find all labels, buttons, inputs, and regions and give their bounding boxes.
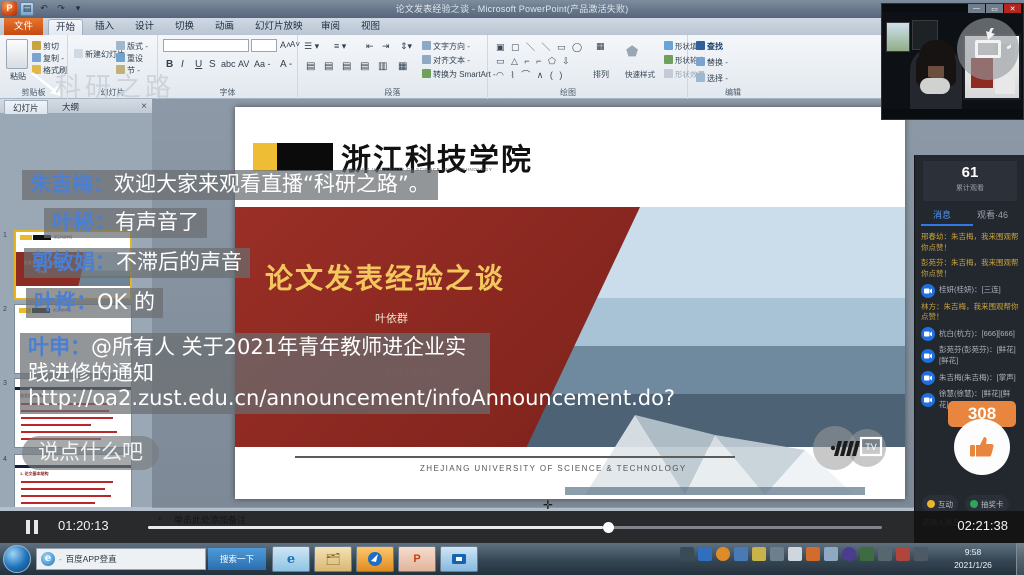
shape-gallery-row3[interactable]: ◠ ⌇ ⌒ ∧ ( ) [496,71,564,80]
tab-slideshow[interactable]: 幻灯片放映 [248,19,310,35]
reset-button[interactable]: 重设 [116,53,143,64]
group-label-paragraph: 段落 [298,87,487,98]
font-color-button[interactable]: A - [280,59,292,70]
shape-gallery-row1[interactable]: ▣ ▢ ＼ ＼ ▭ ◯ [496,43,584,52]
increase-indent-button[interactable]: ⇥ [382,41,390,52]
ribbon-tab-strip: 文件 开始 插入 设计 切换 动画 幻灯片放映 审阅 视图 [0,18,1024,35]
taskbar-clock[interactable]: 9:58 2021/1/26 [938,546,1008,572]
tab-review[interactable]: 审阅 [314,19,347,35]
live-message-gift: 彭苑芬(彭苑芬)：[鲜花][鲜花] [921,345,1019,367]
columns-button[interactable]: ▥ [378,61,387,72]
gift-avatar-icon [921,393,935,407]
title-bar: P ▤ ↶ ↷ ▾ 论文发表经验之谈 - Microsoft PowerPoin… [0,0,1024,18]
live-message-gift: 桂妍(桂妍)：[三连] [921,284,1019,298]
progress-track[interactable] [148,526,882,529]
wall-picture-1 [886,22,910,52]
gift-avatar-icon [921,349,935,363]
maximize-icon[interactable]: ▭ [986,4,1003,13]
tray-network-icon[interactable] [734,547,748,561]
logo-black-block [277,143,333,171]
webcam-window-controls[interactable]: — ▭ ✕ [968,4,1021,13]
line-spacing-button[interactable]: ⇕▾ [400,41,412,52]
chat-text: 有声音了 [115,210,199,234]
tab-animation[interactable]: 动画 [208,19,241,35]
close-panel-icon[interactable]: × [141,101,147,112]
select-button[interactable]: 选择 - [696,73,728,84]
tab-slides[interactable]: 幻灯片 [4,100,48,114]
taskbar-folder-button[interactable]: 🗂 [314,546,352,572]
action-interact-label: 互动 [938,499,953,510]
webcam-window[interactable]: — ▭ ✕ [881,3,1024,120]
search-value: 百度APP登直 [66,553,117,565]
slide-edit-pane[interactable]: 浙江科技学院 ZHEJIANG UNIVERSITY OF SCIENCE AN… [152,99,1024,507]
viewer-count-label: 累计观看 [923,183,1017,193]
group-label-font: 字体 [158,87,297,98]
text-direction-button[interactable]: 文字方向 - [422,41,470,52]
format-painter-button[interactable]: 格式刷 [32,65,67,76]
slide-number: 4 [3,456,7,463]
shape-gallery-row2[interactable]: ▭ △ ⌐ ⌐ ⬠ ⇩ [496,57,572,66]
slide-title: 论文发表经验之谈 [265,257,505,297]
show-desktop-button[interactable] [1016,543,1024,575]
tray-note-icon[interactable] [752,547,766,561]
align-left-button[interactable]: ▤ [306,61,315,72]
total-time: 02:21:38 [957,518,1008,533]
ribbon-group-clipboard: 粘贴 剪切 复制 - 格式刷 剪贴板 [0,35,68,99]
live-message-gift: 杭白(杭方)：[666][666] [921,327,1019,341]
screen: P ▤ ↶ ↷ ▾ 论文发表经验之谈 - Microsoft PowerPoin… [0,0,1024,575]
strikethrough-button[interactable]: abc [221,59,236,69]
tab-messages[interactable]: 消息 [933,208,951,221]
chat-bubble: 叶桦：OK 的 [26,288,163,318]
ribbon: 粘贴 剪切 复制 - 格式刷 剪贴板 新建幻灯片 - 版式 - 重设 节 - 幻… [0,35,1024,99]
taskbar-messenger-button[interactable] [356,546,394,572]
chat-author: 叶秘： [52,210,115,234]
chat-text: 欢迎大家来观看直播“科研之路”。 [114,172,430,196]
tab-transition[interactable]: 切换 [168,19,201,35]
tab-view[interactable]: 视图 [354,19,387,35]
window-title: 论文发表经验之谈 - Microsoft PowerPoint(产品激活失败) [0,2,1024,15]
progress-fill [148,526,603,529]
arrange-button[interactable]: 排列 [586,69,616,80]
clock-time: 9:58 [938,546,1008,559]
chat-bubble: 郭敏娟：不滞后的声音 [24,248,250,278]
chat-bubble-long: 叶申：@所有人 关于2021年青年教师进企业实践进修的通知 http://oa2… [20,333,490,414]
chat-text: OK 的 [97,290,155,314]
group-label-slides: 幻灯片 [68,87,157,98]
mouse-cursor-icon: ✛ [543,498,553,512]
live-message-text: 桂妍(桂妍)：[三连] [939,285,1001,296]
playback-bar[interactable]: 01:20:13 02:21:38 [0,511,1024,543]
thumbs-up-icon[interactable] [954,419,1010,475]
tab-home[interactable]: 开始 [48,19,83,35]
chat-bubble: 叶秘：有声音了 [44,208,207,238]
interact-dot-icon [927,500,935,508]
system-tray[interactable] [680,547,928,561]
taskbar-ie-button[interactable]: e [272,546,310,572]
live-message-text: 杭白(杭方)：[666][666] [939,329,1015,340]
ie-icon: e [41,552,55,566]
taskbar-video-button[interactable] [440,546,478,572]
close-icon[interactable]: ✕ [1004,4,1021,13]
ribbon-group-editing: 查找 替换 - 选择 - 编辑 [688,35,778,99]
tab-file[interactable]: 文件 [4,18,43,35]
chat-author: 叶桦： [34,290,97,314]
char-spacing-button[interactable]: AV [238,59,249,69]
tray-input-icon[interactable] [770,547,784,561]
windows-start-icon[interactable] [3,545,31,573]
action-lottery-label: 抽奖卡 [981,499,1004,510]
tray-cloud-icon[interactable] [824,547,838,561]
change-case-button[interactable]: Aa - [254,59,271,69]
paste-button[interactable]: 粘贴 [2,71,34,82]
shadow-button[interactable]: S [209,59,216,70]
justify-button[interactable]: ▤ [360,61,369,72]
taskbar[interactable]: e - 百度APP登直 搜索一下 e 🗂 P [0,543,1024,575]
convert-smartart-button[interactable]: 转换为 SmartArt - [422,69,496,80]
tray-browser-icon[interactable] [842,547,856,561]
tray-update-icon[interactable] [806,547,820,561]
tab-design[interactable]: 设计 [128,19,161,35]
pause-icon[interactable] [26,520,39,534]
live-message-gift: 朱吉梅(朱吉梅)：[掌声] [921,371,1019,385]
like-widget[interactable]: 308 [946,401,1018,473]
slide-number: 2 [3,306,7,313]
bullets-button[interactable]: ☰ ▾ [304,41,319,52]
text-layout-button[interactable]: ▦ [398,61,407,72]
chat-input-text: 说点什么吧 [38,440,143,464]
chat-author: 郭敏娟： [32,250,116,274]
align-center-button[interactable]: ▤ [324,61,333,72]
cut-button[interactable]: 剪切 [32,41,59,52]
slide-footer-rule [295,456,735,458]
find-button[interactable]: 查找 [696,41,723,52]
ribbon-group-slides: 新建幻灯片 - 版式 - 重设 节 - 幻灯片 [68,35,158,99]
tab-outline[interactable]: 大纲 [54,100,87,114]
tab-active-underline [921,224,973,226]
tray-shield-icon[interactable] [860,547,874,561]
tray-action-icon[interactable] [896,547,910,561]
section-button[interactable]: 节 - [116,65,140,76]
ribbon-group-font: A˄ A˅ B I U S abc AV Aa - A - 字体 [158,35,298,99]
tray-print-icon[interactable] [788,547,802,561]
tab-insert[interactable]: 插入 [88,19,121,35]
quick-styles-button[interactable]: 快速样式 [618,69,662,80]
ribbon-group-paragraph: ☰ ▾ ≡ ▾ ⇤ ⇥ ⇕▾ 文字方向 - 对齐文本 - 转换为 SmartAr… [298,35,488,99]
align-right-button[interactable]: ▤ [342,61,351,72]
numbering-button[interactable]: ≡ ▾ [334,41,346,52]
group-label-editing: 编辑 [688,87,778,98]
tab-viewers[interactable]: 观看·46 [977,208,1008,221]
current-time: 01:20:13 [58,518,109,533]
logo-yellow-block [253,143,280,171]
layout-button[interactable]: 版式 - [116,41,148,52]
tv-watermark-label: TV [865,442,877,452]
clock-date: 2021/1/26 [938,559,1008,572]
search-button[interactable]: 搜索一下 [208,548,266,570]
replace-button[interactable]: 替换 - [696,57,728,68]
presenter-scarf [920,78,950,94]
live-message: 彭苑芬：朱吉梅，我来围观帮你点赞！ [921,258,1019,280]
slide-footer-en: ZHEJIANG UNIVERSITY OF SCIENCE & TECHNOL… [420,464,687,473]
slide-number: 3 [3,380,7,387]
slide-panel-tabs: 幻灯片 大纲 × [0,99,152,114]
chat-author: 朱吉梅： [30,172,114,196]
paste-icon[interactable] [6,39,28,69]
chat-input-placeholder[interactable]: 说点什么吧 [22,436,159,470]
tray-volume-icon[interactable] [878,547,892,561]
gift-avatar-icon [921,371,935,385]
chat-text: 不滞后的声音 [116,250,242,274]
minimize-icon[interactable]: — [968,4,985,13]
current-slide[interactable]: 浙江科技学院 ZHEJIANG UNIVERSITY OF SCIENCE AN… [235,107,905,499]
decrease-indent-button[interactable]: ⇤ [366,41,374,52]
tray-antivirus-icon[interactable] [716,547,730,561]
live-message-text: 彭苑芬(彭苑芬)：[鲜花][鲜花] [939,345,1019,367]
italic-button[interactable]: I [181,59,184,70]
live-message-text: 朱吉梅(朱吉梅)：[掌声] [939,373,1016,384]
font-size-combo[interactable] [251,39,277,52]
chat-author: 叶申： [28,335,91,359]
arrange-icon[interactable]: ▦ [596,41,605,52]
gift-avatar-icon [921,284,935,298]
group-label-drawing: 绘图 [488,87,648,98]
viewer-count-card: 61 累计观看 [923,161,1017,201]
slide-author: 叶依群 [375,310,408,326]
ribbon-group-drawing: ▣ ▢ ＼ ＼ ▭ ◯ ▭ △ ⌐ ⌐ ⬠ ⇩ ◠ ⌇ ⌒ ∧ ( ) ▦ 排列… [488,35,688,99]
group-label-clipboard: 剪贴板 [0,87,67,98]
chat-bubble: 朱吉梅：欢迎大家来观看直播“科研之路”。 [22,170,438,200]
progress-knob[interactable] [603,522,614,533]
live-message: 林方：朱吉梅，我来围观帮你点赞！ [921,302,1019,324]
viewer-count: 61 [923,164,1017,181]
lottery-dot-icon [970,500,978,508]
underline-button[interactable]: U [195,59,202,70]
font-family-combo[interactable] [163,39,249,52]
restore-window-icon[interactable] [957,18,1019,80]
live-tab-bar[interactable]: 消息 观看·46 [915,205,1024,225]
taskbar-powerpoint-button[interactable]: P [398,546,436,572]
quick-styles-icon[interactable]: ⬟ [626,43,638,60]
gift-avatar-icon [921,327,935,341]
align-text-button[interactable]: 对齐文本 - [422,55,470,66]
tv-watermark-icon: TV [809,423,887,473]
tray-messenger-icon[interactable] [698,547,712,561]
search-input[interactable]: e - 百度APP登直 [36,548,206,570]
tray-expand-icon[interactable] [680,547,694,561]
copy-button[interactable]: 复制 - [32,53,64,64]
webcam-letterbox-bottom [882,109,1024,119]
tray-monitor-icon[interactable] [914,547,928,561]
live-chat-panel[interactable]: 61 累计观看 消息 观看·46 邢春幼：朱吉梅，我来围观帮你点赞！ 彭苑芬：朱… [914,155,1024,543]
bold-button[interactable]: B [166,59,173,70]
slide-number: 1 [3,232,7,239]
live-message: 邢春幼：朱吉梅，我来围观帮你点赞！ [921,232,1019,254]
